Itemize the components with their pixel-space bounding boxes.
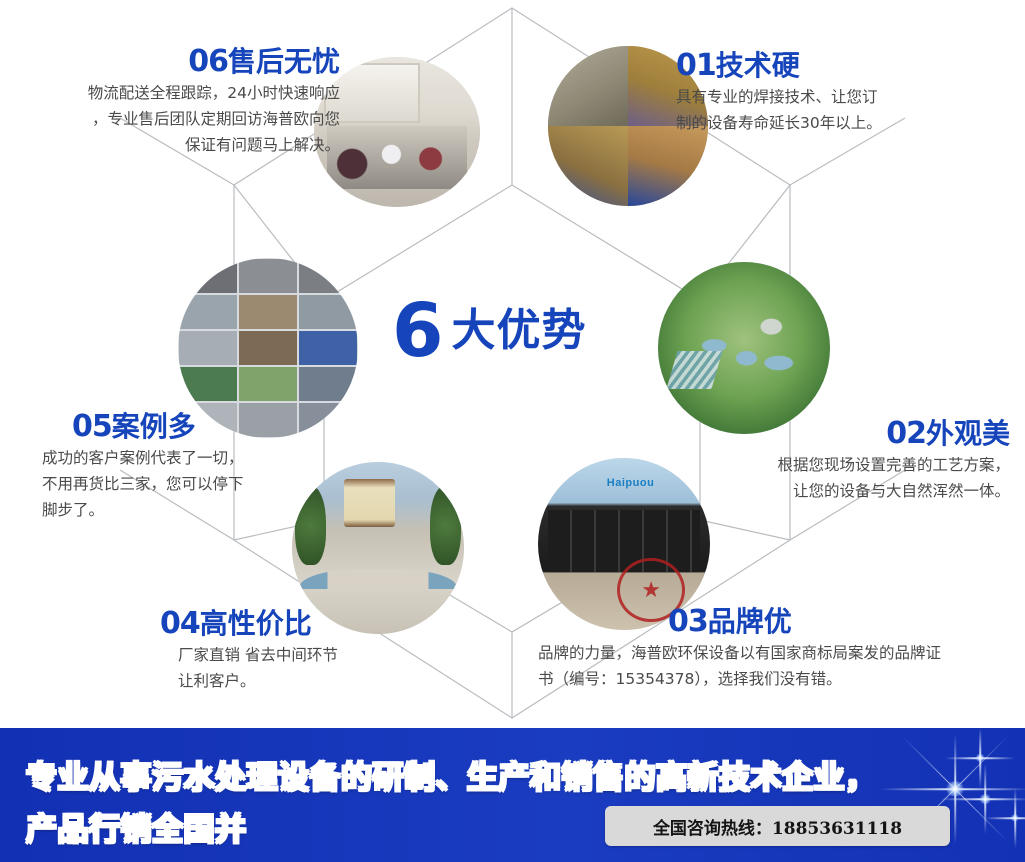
hotline-box[interactable]: 全国咨询热线：18853631118 <box>605 806 950 846</box>
sparkle-icon-tiny <box>945 728 1015 788</box>
feature-04: 04高性价比 厂家直销 省去中间环节 让利客户。 <box>160 602 460 694</box>
sparkle-icon-edge <box>985 788 1025 848</box>
center-label: 大优势 <box>452 309 587 353</box>
feature-heading-05: 05案例多 <box>72 405 342 445</box>
feature-03: 03品牌优 品牌的力量，海普欧环保设备以有国家商标局案发的品牌证 书（编号：15… <box>538 600 1008 692</box>
feature-heading-06: 06售后无忧 <box>20 40 340 80</box>
feature-heading-04: 04高性价比 <box>160 602 460 642</box>
center-number: 6 <box>392 294 442 368</box>
feature-heading-02: 02外观美 <box>640 412 1010 452</box>
aerial-plant-photo <box>658 262 830 434</box>
haipuou-logo: Haipuou <box>607 477 655 489</box>
center-title: 6 大优势 <box>392 286 642 376</box>
feature-heading-01: 01技术硬 <box>676 44 1006 84</box>
banner-line-2: 远销欧美，山东省重点扶持的环保设备企业。 <box>26 856 906 862</box>
feature-06: 06售后无忧 物流配送全程跟踪，24小时快速响应 ，专业售后团队定期回访海普欧向… <box>20 40 340 158</box>
feature-image-02 <box>658 262 830 434</box>
sparkle-icon-small <box>940 764 1025 834</box>
feature-body-01: 具有专业的焊接技术、让您订 制的设备寿命延长30年以上。 <box>676 84 1006 136</box>
feature-body-06: 物流配送全程跟踪，24小时快速响应 ，专业售后团队定期回访海普欧向您 保证有问题… <box>20 80 340 158</box>
feature-01: 01技术硬 具有专业的焊接技术、让您订 制的设备寿命延长30年以上。 <box>676 44 1006 136</box>
advantages-infographic: 6 大优势 06售后无忧 物流配送全程跟踪，24小时快速响应 ，专业售后团队定期… <box>0 0 1025 862</box>
feature-body-04: 厂家直销 省去中间环节 让利客户。 <box>178 642 460 694</box>
feature-body-03: 品牌的力量，海普欧环保设备以有国家商标局案发的品牌证 书（编号：15354378… <box>538 640 1008 692</box>
hotline-text: 全国咨询热线：18853631118 <box>653 814 902 839</box>
feature-heading-03: 03品牌优 <box>668 600 1008 640</box>
